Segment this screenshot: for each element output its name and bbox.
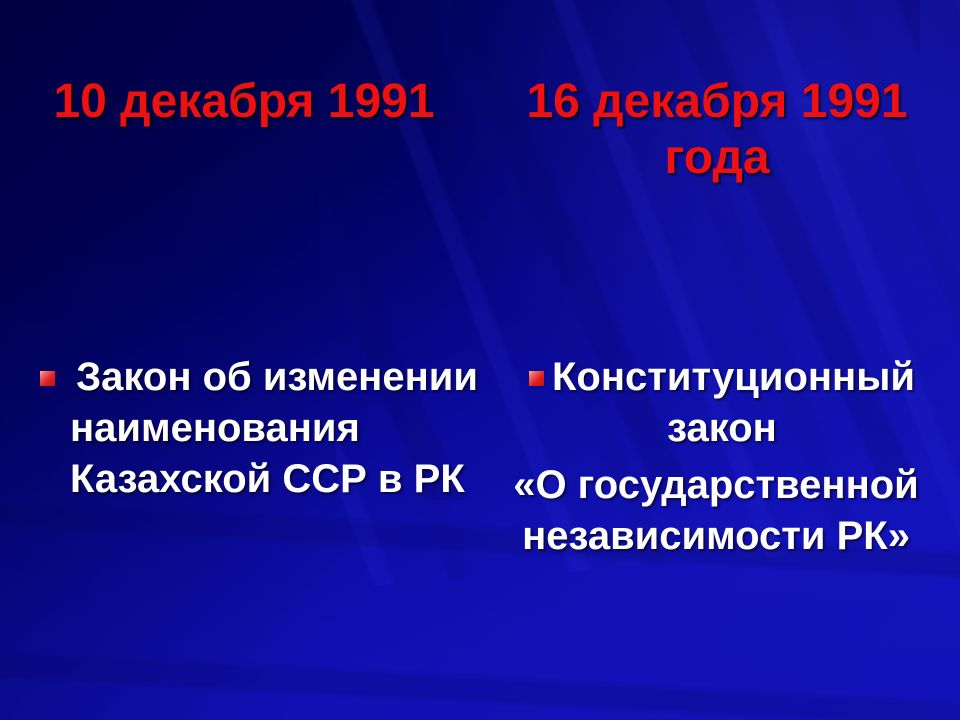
- right-column-date-heading: 16 декабря 1991 года: [486, 74, 948, 186]
- left-column-bullet-item: Закон об изменении наименования Казахско…: [40, 352, 496, 505]
- column-right: 16 декабря 1991 года Конституционный зак…: [486, 0, 948, 720]
- red-square-bullet-icon: [40, 371, 55, 386]
- left-column-bullet-text: Закон об изменении наименования Казахско…: [65, 355, 478, 501]
- right-column-bullet-text: Конституционный закон: [552, 355, 915, 450]
- right-column-bullet-item: Конституционный закон: [502, 352, 942, 454]
- slide-canvas: 10 декабря 1991 Закон об изменении наиме…: [0, 0, 960, 720]
- red-square-bullet-icon: [529, 371, 544, 386]
- left-column-date-heading: 10 декабря 1991: [18, 74, 470, 130]
- right-column-law-title: «О государственной независимости РК»: [488, 460, 944, 562]
- column-left: 10 декабря 1991 Закон об изменении наиме…: [18, 0, 470, 720]
- slide-content: 10 декабря 1991 Закон об изменении наиме…: [0, 0, 960, 720]
